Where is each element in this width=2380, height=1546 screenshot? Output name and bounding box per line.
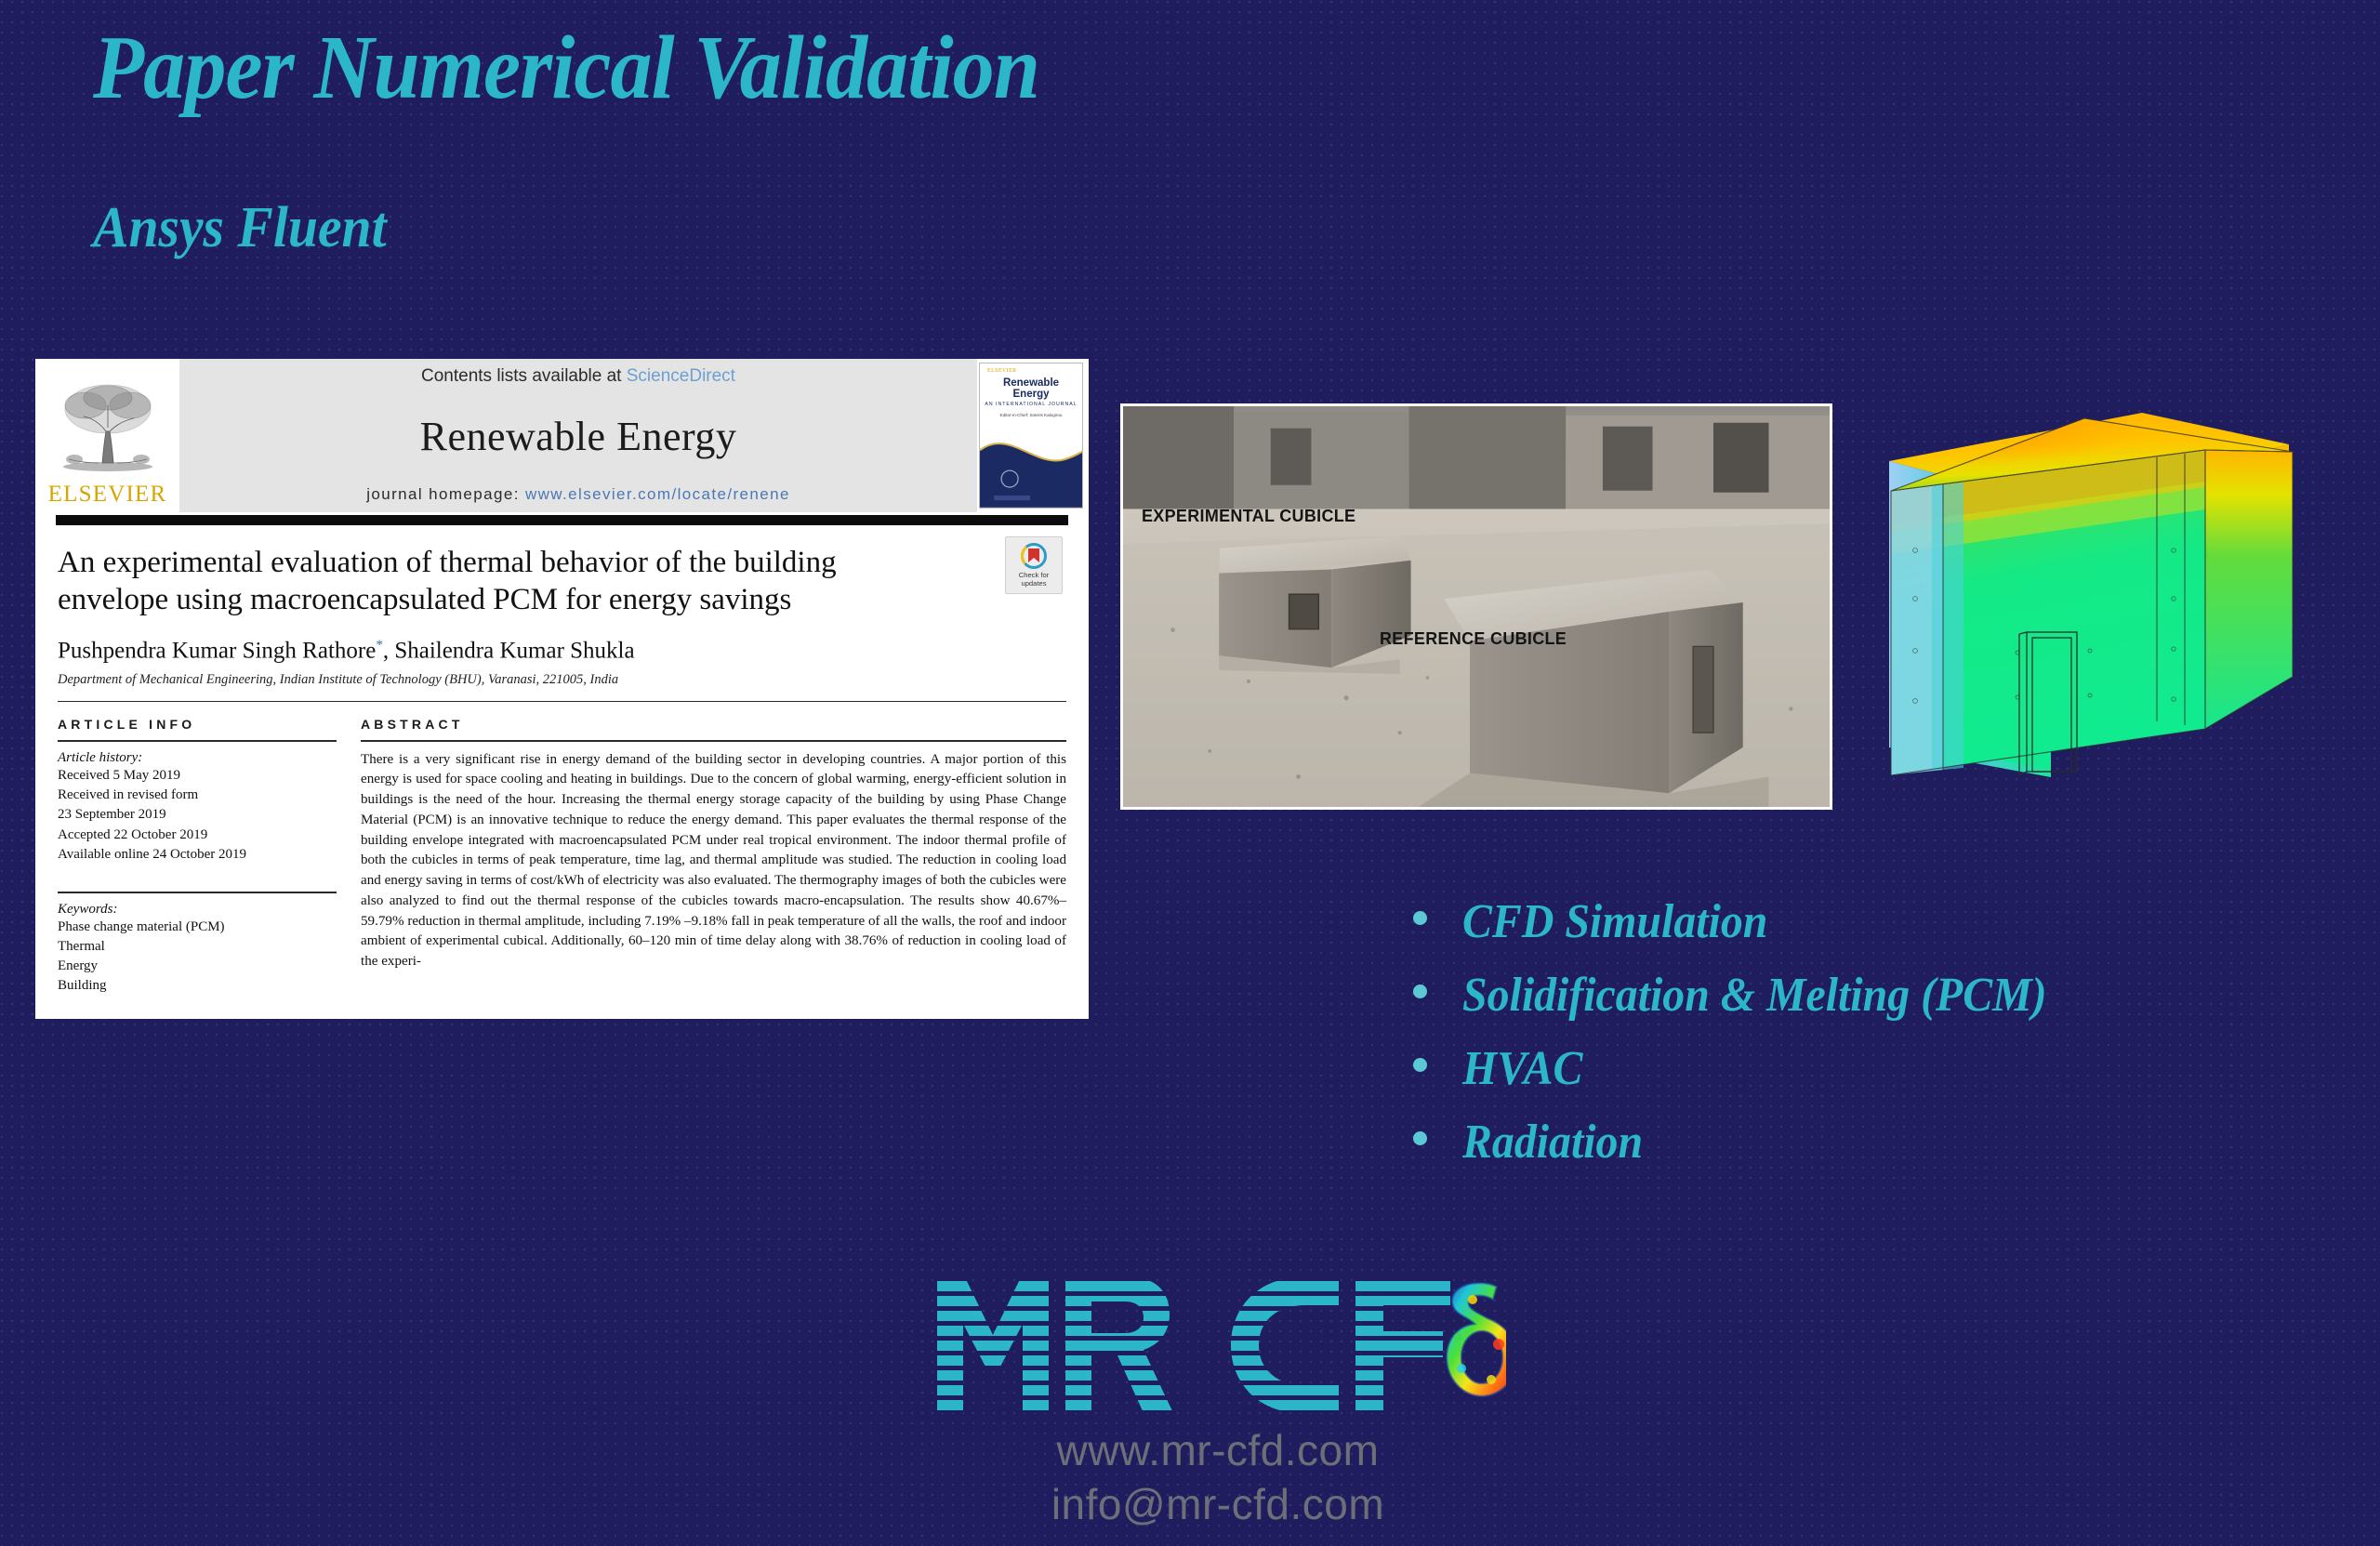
badge-line-2: updates <box>1019 580 1050 588</box>
photo-label-experimental: EXPERIMENTAL CUBICLE <box>1142 507 1355 526</box>
homepage-prefix: journal homepage: <box>366 485 525 503</box>
bullet-item: Radiation <box>1413 1115 2097 1169</box>
photo-graphic <box>1123 406 1830 807</box>
article-info-rule <box>58 740 337 741</box>
journal-header-band: Contents lists available at ScienceDirec… <box>179 359 977 512</box>
keywords-label: Keywords: <box>58 902 337 918</box>
bullet-dot-icon <box>1413 1131 1427 1145</box>
bullet-item: HVAC <box>1413 1041 2097 1096</box>
logo-delta-glyph <box>1447 1283 1506 1396</box>
header-black-rule <box>56 515 1068 525</box>
cover-subtitle: AN INTERNATIONAL JOURNAL <box>985 402 1078 407</box>
slide-canvas: Paper Numerical Validation Ansys Fluent <box>0 0 2380 1546</box>
keyword-item: Thermal <box>58 937 337 957</box>
bullet-label: HVAC <box>1462 1041 1582 1096</box>
elsevier-wordmark: ELSEVIER <box>48 482 167 508</box>
sciencedirect-link[interactable]: ScienceDirect <box>627 366 735 386</box>
author-marker: * <box>376 638 383 653</box>
keyword-item: Energy <box>58 957 337 976</box>
bullet-dot-icon <box>1413 984 1427 998</box>
cfd-temperature-contour <box>1878 402 2306 785</box>
feature-bullet-list: CFD Simulation Solidification & Melting … <box>1413 894 2097 1188</box>
paper-authors: Pushpendra Kumar Singh Rathore*, Shailen… <box>58 638 1066 664</box>
logo-email[interactable]: info@mr-cfd.com <box>892 1478 1543 1532</box>
article-info-column: ARTICLE INFO Article history: Received 5… <box>58 717 337 996</box>
paper-screenshot: ELSEVIER Contents lists available at Sci… <box>35 359 1089 1019</box>
experiment-photo: EXPERIMENTAL CUBICLE REFERENCE CUBICLE <box>1120 403 1832 810</box>
elsevier-logo: ELSEVIER <box>35 359 179 512</box>
paper-affiliation: Department of Mechanical Engineering, In… <box>58 672 1066 688</box>
author-secondary: , Shailendra Kumar Shukla <box>383 638 635 663</box>
logo-mr-letters <box>930 1266 1190 1424</box>
history-line: Accepted 22 October 2019 <box>58 826 337 845</box>
elsevier-tree-icon <box>52 377 164 482</box>
contents-prefix: Contents lists available at <box>421 366 627 386</box>
bullet-item: CFD Simulation <box>1413 894 2097 949</box>
bullet-dot-icon <box>1413 1058 1427 1072</box>
brand-logo-area: www.mr-cfd.com info@mr-cfd.com <box>892 1266 1543 1531</box>
contents-available-line: Contents lists available at ScienceDirec… <box>421 366 735 387</box>
homepage-link[interactable]: www.elsevier.com/locate/renene <box>525 485 790 503</box>
logo-website[interactable]: www.mr-cfd.com <box>892 1424 1543 1478</box>
check-for-updates-badge[interactable]: Check for updates <box>1005 536 1063 594</box>
history-line: Available online 24 October 2019 <box>58 845 337 865</box>
journal-homepage-line: journal homepage: www.elsevier.com/locat… <box>366 485 790 504</box>
author-primary: Pushpendra Kumar Singh Rathore <box>58 638 376 663</box>
abstract-heading: ABSTRACT <box>361 717 1066 732</box>
abstract-text: There is a very significant rise in ener… <box>361 750 1066 972</box>
paper-title-block: Check for updates An experimental evalua… <box>35 525 1089 688</box>
journal-cover-thumbnail: ELSEVIER Renewable Energy AN INTERNATION… <box>977 359 1089 512</box>
photo-label-reference: REFERENCE CUBICLE <box>1380 629 1567 649</box>
abstract-column: ABSTRACT There is a very significant ris… <box>361 717 1066 996</box>
cfd-contour-graphic <box>1878 402 2306 785</box>
mr-cfd-logo-icon <box>930 1266 1506 1424</box>
article-history-label: Article history: <box>58 750 337 766</box>
history-line: Received 5 May 2019 <box>58 766 337 786</box>
bullet-dot-icon <box>1413 911 1427 925</box>
cover-title: Renewable Energy <box>985 378 1078 400</box>
crossmark-icon <box>1020 542 1048 570</box>
bullet-item: Solidification & Melting (PCM) <box>1413 968 2097 1023</box>
history-line: Received in revised form <box>58 786 337 805</box>
keyword-item: Phase change material (PCM) <box>58 918 337 937</box>
page-subtitle: Ansys Fluent <box>93 195 387 261</box>
bullet-label: CFD Simulation <box>1462 894 1767 949</box>
paper-article-title: An experimental evaluation of thermal be… <box>58 544 876 619</box>
bullet-label: Solidification & Melting (PCM) <box>1462 968 2047 1023</box>
cover-wave-graphic <box>980 424 1083 508</box>
keyword-item: Building <box>58 976 337 996</box>
history-line: 23 September 2019 <box>58 805 337 825</box>
abstract-rule <box>361 740 1066 741</box>
journal-title: Renewable Energy <box>420 413 737 460</box>
cover-publisher: ELSEVIER <box>985 368 1078 374</box>
cover-editor: Editor-in-Chief: Soteris Kalogirou <box>985 413 1078 417</box>
keywords-rule <box>58 892 337 892</box>
journal-header: ELSEVIER Contents lists available at Sci… <box>35 359 1089 512</box>
article-info-heading: ARTICLE INFO <box>58 717 337 732</box>
logo-cf-letters <box>1216 1266 1476 1424</box>
page-title: Paper Numerical Validation <box>93 20 1039 116</box>
bullet-label: Radiation <box>1462 1115 1643 1169</box>
paper-body-columns: ARTICLE INFO Article history: Received 5… <box>35 702 1089 996</box>
